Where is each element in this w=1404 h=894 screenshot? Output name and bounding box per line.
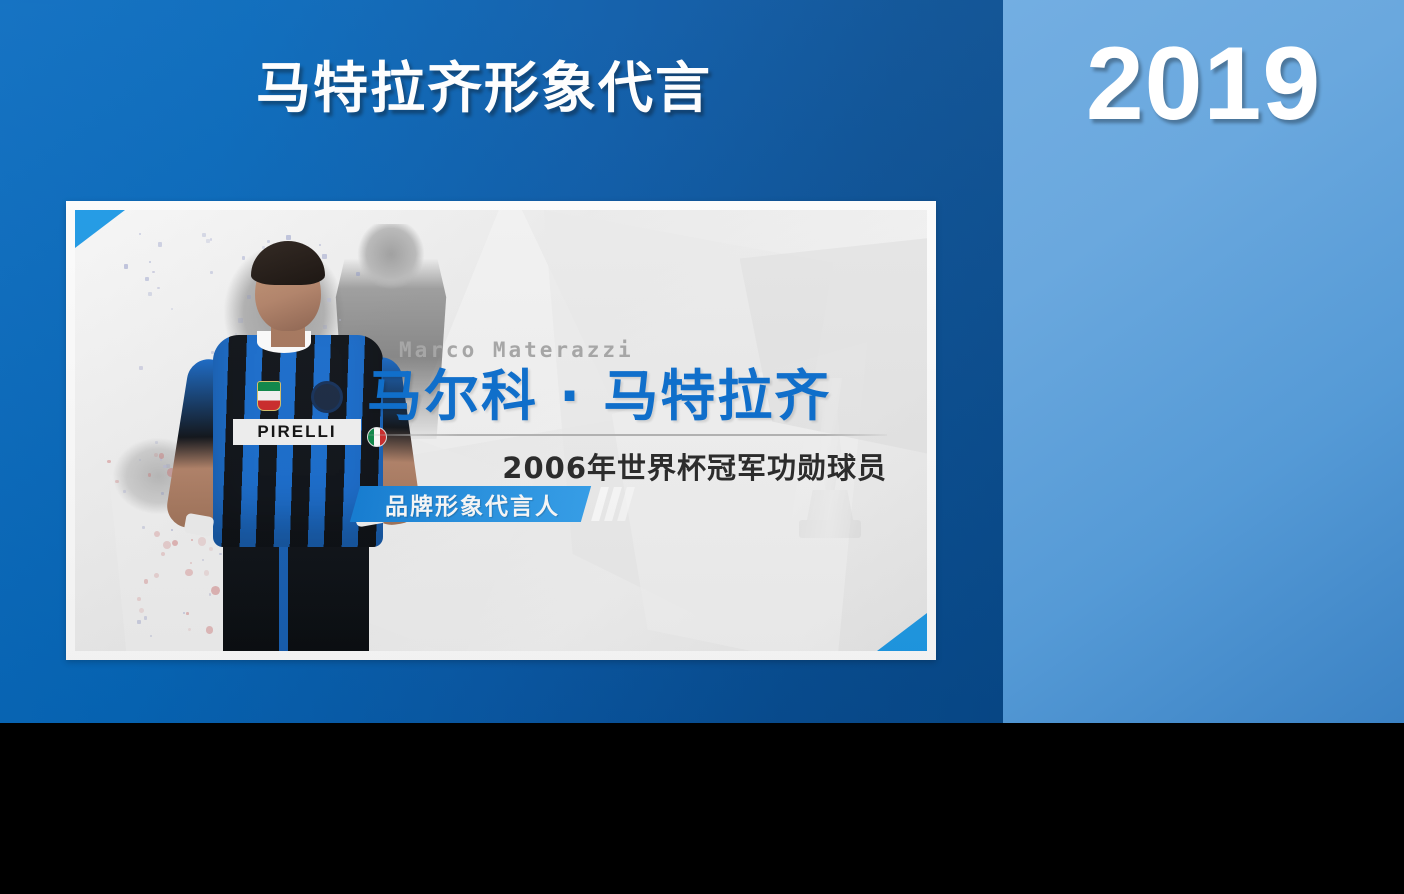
materazzi-poster-frame: PIRELLI Marco Materazzi 马尔科 · 马特拉齐 2006年… xyxy=(66,201,936,660)
splatter-dot xyxy=(137,597,141,601)
brand-ambassador-badge-body: 品牌形象代言人 xyxy=(350,486,591,522)
slide-stage: 马特拉齐形象代言 xyxy=(0,0,1404,894)
player-hair xyxy=(251,241,325,285)
letterbox-black-bar xyxy=(0,723,1404,894)
splatter-dot xyxy=(154,573,159,578)
page-title: 马特拉齐形象代言 xyxy=(256,58,712,119)
player-shorts-stripe xyxy=(279,531,288,651)
badge-slashes-icon xyxy=(596,486,630,522)
particle-dot xyxy=(152,271,155,274)
splatter-dot xyxy=(107,460,110,463)
splatter-dot xyxy=(161,552,165,556)
particle-dot xyxy=(124,264,129,269)
main-blue-panel: 马特拉齐形象代言 xyxy=(0,0,1003,723)
divider xyxy=(367,434,887,436)
scudetto-badge-icon xyxy=(257,381,281,411)
jersey-sponsor-text: PIRELLI xyxy=(233,419,361,445)
year-panel: 2019 xyxy=(1003,0,1404,723)
particle-dot xyxy=(139,366,143,370)
particle-dot xyxy=(149,261,151,263)
splatter-dot xyxy=(139,608,144,613)
splatter-dot xyxy=(148,473,151,476)
player-wristband-left xyxy=(183,513,214,538)
splatter-dot xyxy=(159,453,165,459)
particle-dot xyxy=(158,242,163,247)
brand-ambassador-badge: 品牌形象代言人 xyxy=(355,486,630,522)
particle-dot xyxy=(148,292,152,296)
presentation-slide: 马特拉齐形象代言 xyxy=(0,0,1404,723)
player-latin-name: Marco Materazzi xyxy=(399,338,887,362)
splatter-dot xyxy=(154,531,160,537)
year-label: 2019 xyxy=(1003,32,1404,136)
particle-dot xyxy=(155,441,158,444)
particle-dot xyxy=(145,277,149,281)
splatter-dot xyxy=(163,541,171,549)
particle-dot xyxy=(139,233,141,235)
materazzi-poster-image: PIRELLI Marco Materazzi 马尔科 · 马特拉齐 2006年… xyxy=(75,210,927,651)
corner-triangle-top-left-icon xyxy=(75,210,125,248)
brand-ambassador-badge-label: 品牌形象代言人 xyxy=(385,487,560,521)
splatter-dot xyxy=(115,480,119,484)
trophy-base-shape xyxy=(803,490,857,524)
poster-text-block: Marco Materazzi 马尔科 · 马特拉齐 2006年世界杯冠军功勋球… xyxy=(367,338,887,487)
inter-milan-crest-icon xyxy=(311,381,343,413)
splatter-dot xyxy=(154,453,158,457)
splatter-dot xyxy=(144,579,149,584)
player-shorts xyxy=(223,531,369,651)
player-achievement-subtitle: 2006年世界杯冠军功勋球员 xyxy=(367,445,887,487)
player-chinese-name: 马尔科 · 马特拉齐 xyxy=(367,366,887,428)
trophy-plinth-shape xyxy=(799,520,861,538)
corner-triangle-bottom-right-icon xyxy=(877,613,927,651)
particle-dot xyxy=(157,287,159,289)
